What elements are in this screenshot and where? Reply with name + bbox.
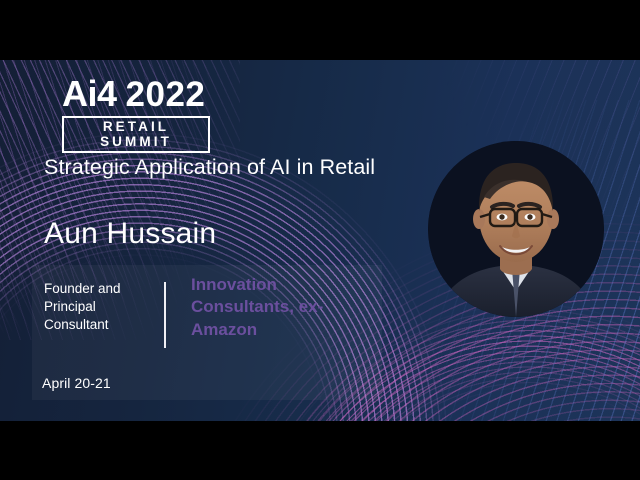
- speaker-company: Innovation Consultants, ex-Amazon: [191, 274, 381, 341]
- speaker-portrait: [428, 141, 604, 317]
- event-logo: Ai4 2022 RETAIL SUMMIT: [62, 76, 210, 153]
- vertical-divider: [164, 282, 166, 348]
- video-frame: Ai4 2022 RETAIL SUMMIT Strategic Applica…: [0, 0, 640, 480]
- event-logo-wordmark: Ai4 2022: [62, 76, 210, 112]
- event-logo-brand: Ai4: [62, 76, 117, 112]
- event-logo-subtitle: RETAIL SUMMIT: [62, 116, 210, 153]
- speaker-name: Aun Hussain: [44, 217, 216, 250]
- event-logo-year: 2022: [126, 77, 206, 112]
- portrait-illustration: [428, 141, 604, 317]
- event-date: April 20-21: [42, 375, 111, 391]
- letterbox-top: [0, 0, 640, 60]
- slide-canvas: Ai4 2022 RETAIL SUMMIT Strategic Applica…: [0, 60, 640, 421]
- speaker-role: Founder and Principal Consultant: [44, 280, 162, 334]
- letterbox-bottom: [0, 421, 640, 480]
- session-title: Strategic Application of AI in Retail: [44, 154, 389, 182]
